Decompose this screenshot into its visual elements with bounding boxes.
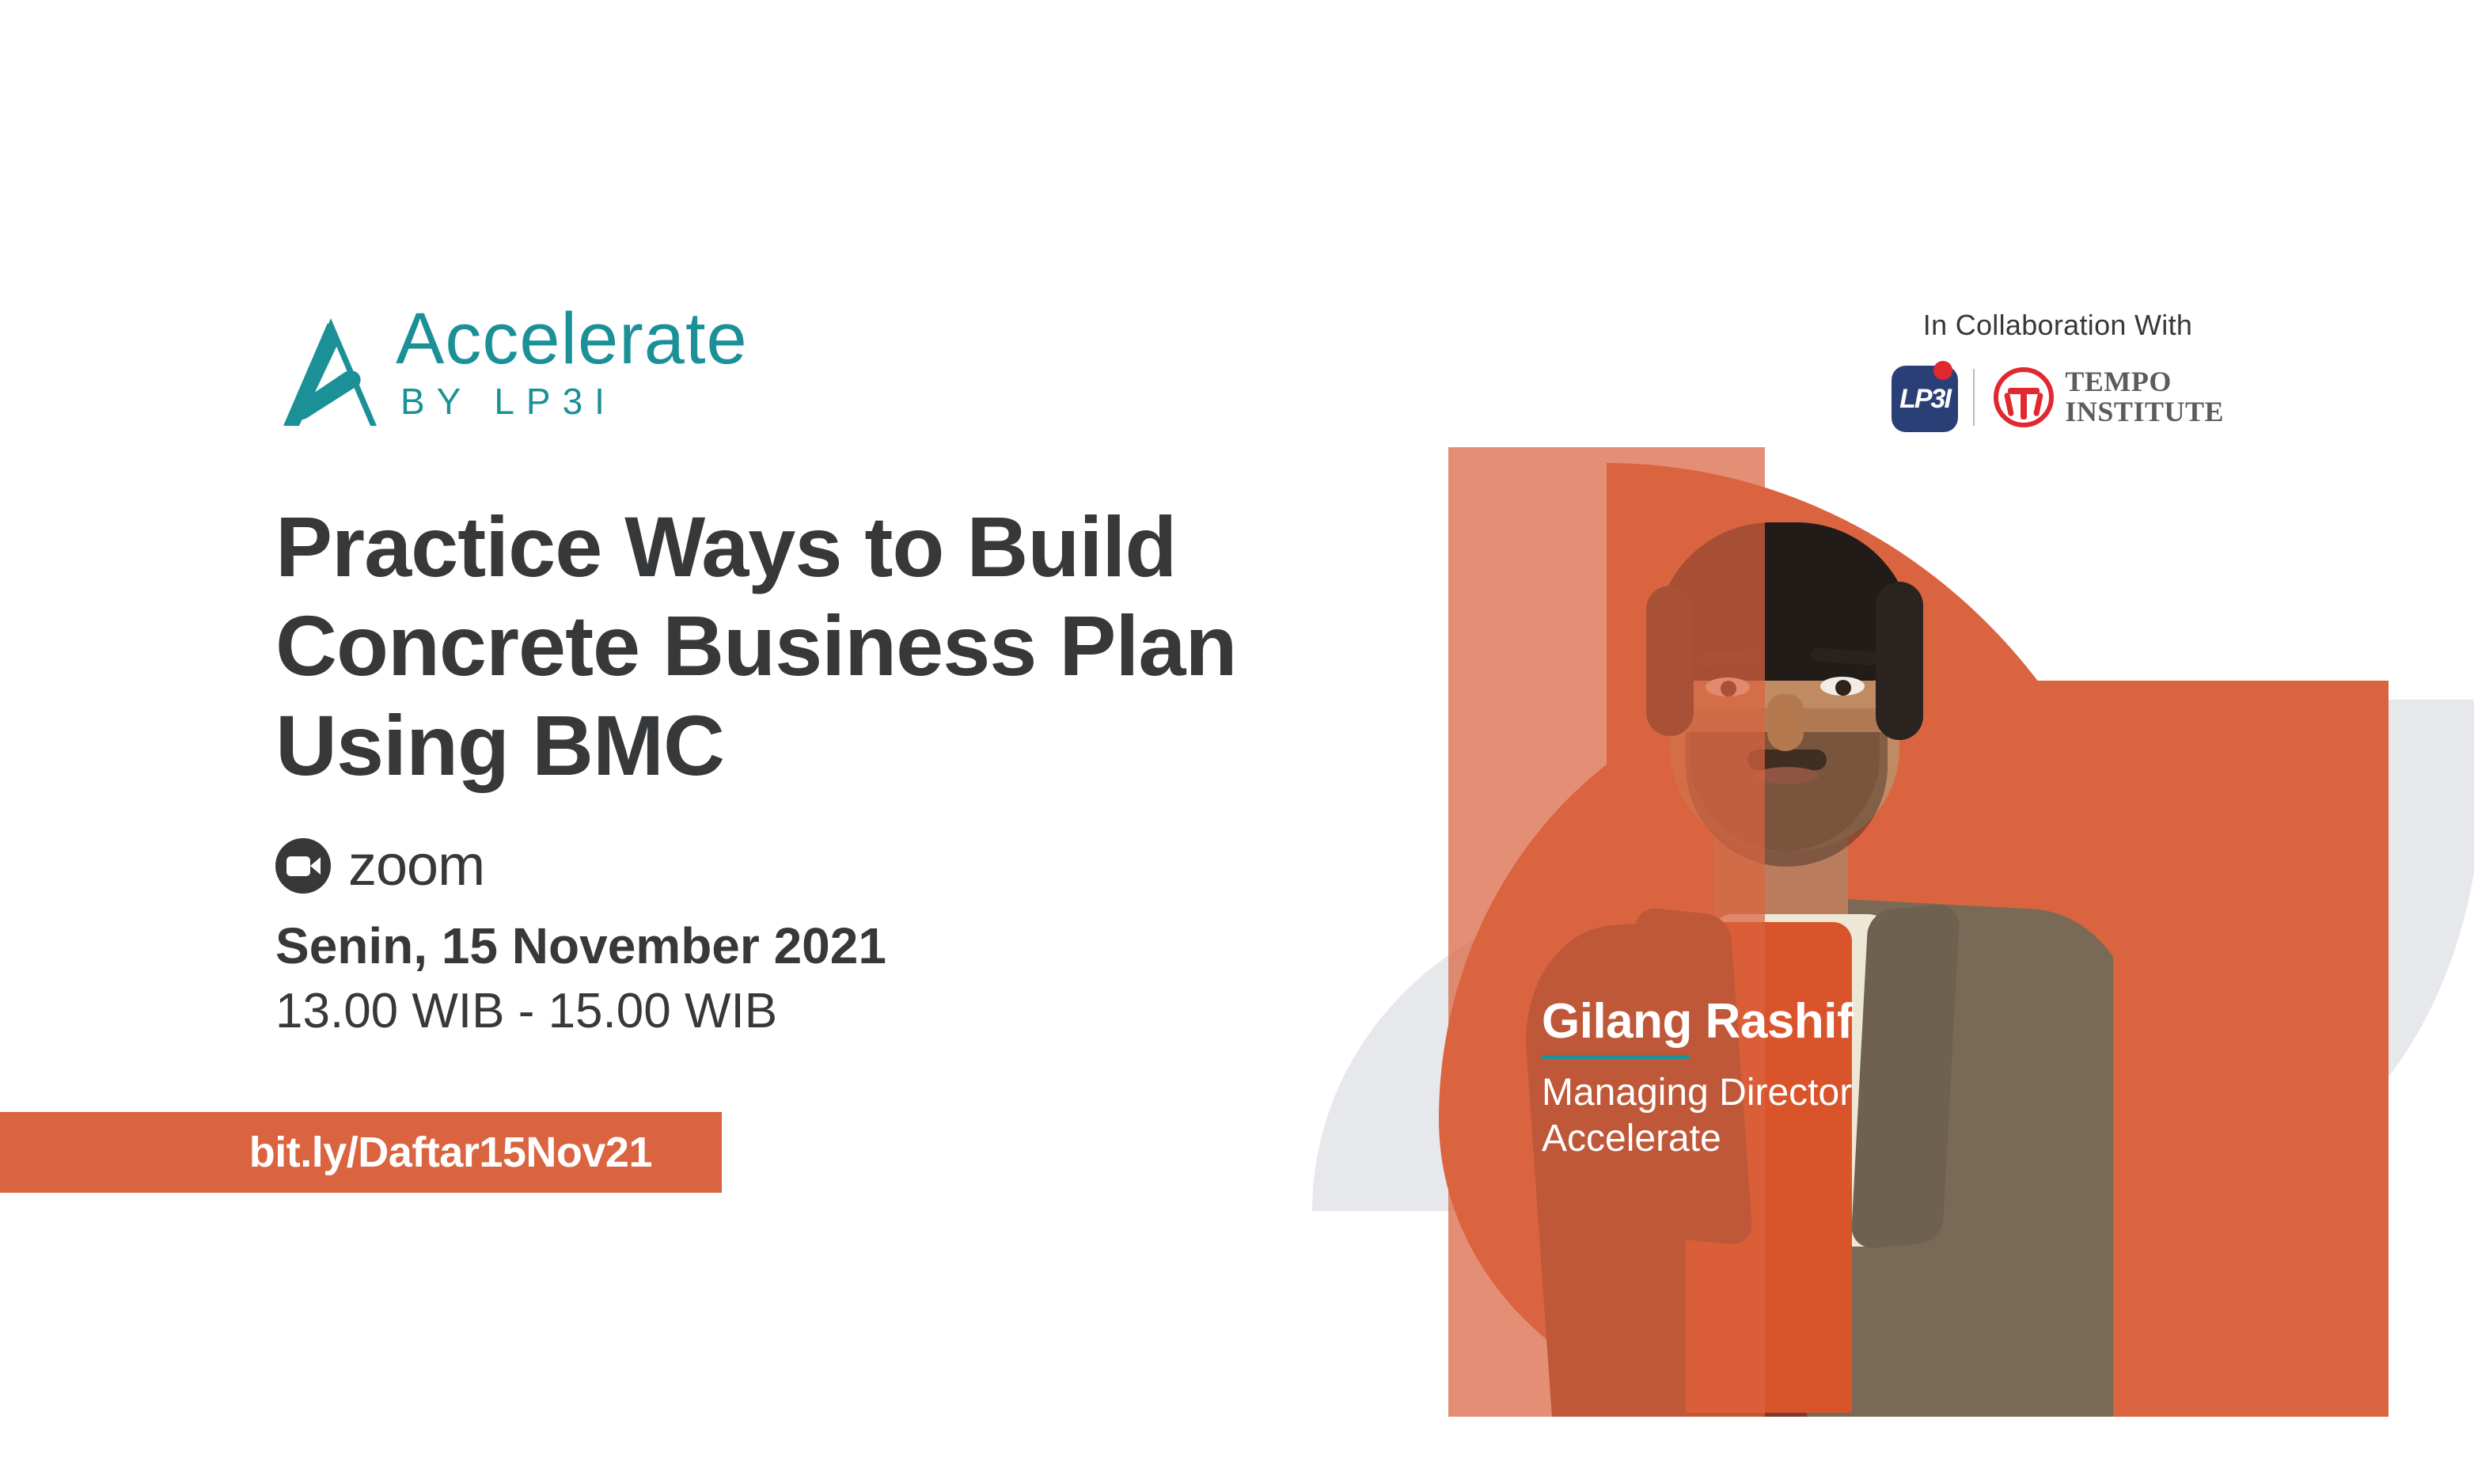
portrait-nose: [1767, 694, 1804, 751]
tempo-pen-nib-icon: [1994, 367, 2054, 427]
headline-line-2: Concrete Business Plan: [275, 596, 1383, 695]
lp3i-red-dot-icon: [1933, 361, 1952, 380]
portrait-lapel-right: [1850, 903, 1960, 1250]
speaker-name: Gilang Rashif: [1542, 996, 1853, 1047]
registration-link-text[interactable]: bit.ly/Daftar15Nov21: [249, 1128, 722, 1177]
tempo-wordmark: TEMPO INSTITUTE: [2065, 367, 2224, 427]
tempo-word-line-1: TEMPO: [2065, 367, 2224, 397]
tempo-word-line-2: INSTITUTE: [2065, 397, 2224, 427]
speaker-role: Managing Director: [1542, 1070, 1853, 1116]
page-title: Practice Ways to Build Concrete Business…: [275, 497, 1383, 795]
portrait-mouth: [1755, 767, 1819, 784]
tempo-nib-left: [2004, 393, 2014, 417]
tempo-nib-right: [2033, 393, 2043, 417]
tempo-institute-logo: TEMPO INSTITUTE: [1994, 367, 2224, 427]
speaker-caption: Gilang Rashif Managing Director Accelera…: [1542, 996, 1853, 1161]
accelerate-logo: Accelerate BY LP3I: [275, 302, 798, 453]
portrait-orange-wash: [1448, 447, 1765, 1417]
zoom-wordmark: zoom: [348, 837, 484, 894]
accelerate-a-mark-icon: [275, 307, 386, 434]
collaboration-label: In Collaboration With: [1892, 309, 2224, 342]
event-time: 13.00 WIB - 15.00 WIB: [275, 983, 777, 1039]
speaker-organization: Accelerate: [1542, 1116, 1853, 1162]
portrait-pupil-right: [1835, 680, 1851, 696]
zoom-video-camera-icon: [275, 838, 331, 894]
speaker-underline: [1542, 1055, 1689, 1059]
lp3i-badge-icon: LP3I: [1892, 361, 1954, 434]
zoom-camera-lens: [310, 857, 321, 875]
partner-divider: [1973, 369, 1975, 426]
collaboration-block: In Collaboration With LP3I TEMPO INSTITU…: [1892, 309, 2224, 434]
headline-line-3: Using BMC: [275, 696, 1383, 795]
accelerate-wordmark: Accelerate: [396, 298, 748, 381]
zoom-camera-body: [286, 856, 310, 876]
event-date: Senin, 15 November 2021: [275, 917, 886, 975]
headline-line-1: Practice Ways to Build: [275, 497, 1383, 596]
portrait-hair-side-right: [1876, 582, 1923, 740]
platform-zoom: zoom: [275, 837, 484, 894]
registration-link-bar[interactable]: bit.ly/Daftar15Nov21: [0, 1112, 722, 1193]
tempo-t-stem: [2021, 388, 2027, 419]
partner-logo-row: LP3I TEMPO INSTITUTE: [1892, 361, 2224, 434]
accelerate-byline: BY LP3I: [400, 380, 617, 423]
